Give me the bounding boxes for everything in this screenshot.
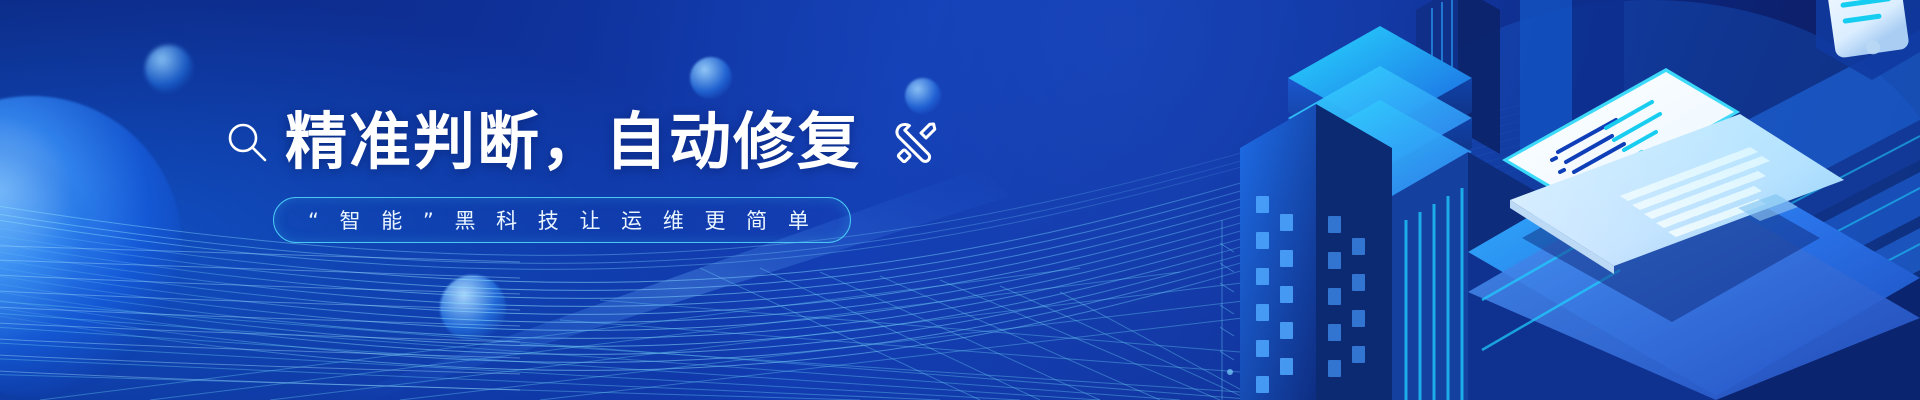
search-magnifier-icon — [225, 120, 269, 164]
copy-block: 精准判断，自动修复 “ 智 能 ” 黑 科 技 让 运 维 更 简 单 — [225, 105, 1055, 243]
bokeh-dot — [145, 45, 193, 93]
page-title: 精准判断，自动修复 — [285, 110, 861, 174]
headline-row: 精准判断，自动修复 — [225, 105, 1055, 179]
promo-banner: 精准判断，自动修复 “ 智 能 ” 黑 科 技 让 运 维 更 简 单 — [0, 0, 1920, 400]
isometric-datacenter-illustration — [1220, 0, 1920, 400]
bokeh-dot — [440, 275, 506, 341]
subtitle-pill: “ 智 能 ” 黑 科 技 让 运 维 更 简 单 — [273, 197, 851, 243]
office-tower — [1240, 104, 1392, 400]
bokeh-dot — [690, 57, 732, 99]
wrench-screwdriver-icon — [891, 116, 943, 168]
